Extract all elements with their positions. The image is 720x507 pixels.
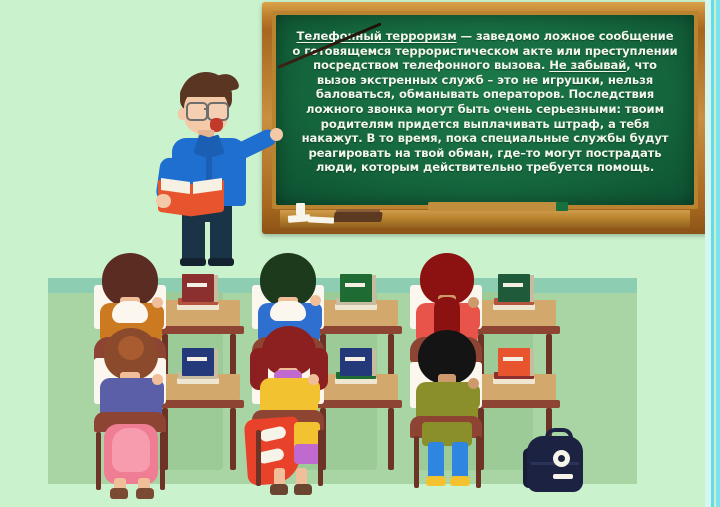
glasses-icon xyxy=(186,102,208,121)
student-hand xyxy=(152,297,163,308)
student-shoe-right xyxy=(450,476,470,486)
student-back-right xyxy=(402,330,494,488)
backpack-with-face xyxy=(527,428,583,492)
chalk-tray-ledge xyxy=(428,202,564,211)
edge-stripe-cyan-outer xyxy=(716,0,720,507)
book-label-band xyxy=(345,357,365,361)
teacher-fringe xyxy=(180,84,232,97)
student-leg-left xyxy=(428,442,444,480)
desk-leg-right xyxy=(388,408,394,470)
chalk-tray-marker xyxy=(556,202,568,211)
book-label-band xyxy=(187,357,207,361)
student-back-middle xyxy=(244,326,336,488)
student-skirt-lower xyxy=(294,444,320,464)
book-cover xyxy=(498,274,530,302)
chair-leg-left xyxy=(414,436,419,488)
student-skirt-highlight xyxy=(112,428,150,472)
classroom-illustration: Телефонный терроризм — заведомо ложное с… xyxy=(0,0,720,507)
chalk-piece-2 xyxy=(296,203,305,215)
student-leg-right xyxy=(452,442,468,480)
blackboard: Телефонный терроризм — заведомо ложное с… xyxy=(262,2,708,234)
student-arm xyxy=(466,305,480,331)
chalk-piece-3 xyxy=(308,216,334,223)
student-shoe-right xyxy=(136,488,154,499)
student-shoe-right xyxy=(294,484,312,495)
book-cover xyxy=(340,348,372,376)
backpack-mouth xyxy=(553,474,573,479)
student-back-left xyxy=(86,328,178,488)
glasses-bridge xyxy=(204,108,209,110)
book-label-band xyxy=(503,283,523,287)
book-cover xyxy=(182,348,214,376)
teacher-shoe-right xyxy=(208,258,234,266)
book-cover xyxy=(340,274,372,302)
student-shoe-left xyxy=(110,488,128,499)
chair-leg-right xyxy=(476,436,481,488)
teacher-hand-left xyxy=(156,194,171,208)
teacher-shoe-left xyxy=(180,258,206,266)
book-cover xyxy=(182,274,214,302)
chair-leg-right xyxy=(160,432,165,490)
teacher-figure xyxy=(150,72,270,262)
student-collar xyxy=(270,301,306,321)
student-hand xyxy=(310,295,321,306)
blackboard-heading: Телефонный терроризм xyxy=(297,29,457,43)
blackboard-eraser xyxy=(333,212,382,222)
book-cover xyxy=(498,348,530,376)
edge-stripe-cyan-inner xyxy=(711,0,714,507)
student-hair-bun xyxy=(118,336,144,360)
book-label-band xyxy=(503,357,523,361)
backpack-pupil xyxy=(558,455,565,462)
chair-leg-right xyxy=(318,430,323,486)
blackboard-emphasis: Не забывай xyxy=(549,58,626,72)
blackboard-surface: Телефонный терроризм — заведомо ложное с… xyxy=(276,15,694,205)
student-collar xyxy=(112,301,148,323)
desk-leg-right xyxy=(230,408,236,470)
teacher-hand-right xyxy=(270,128,283,141)
blackboard-text: Телефонный терроризм — заведомо ложное с… xyxy=(292,29,678,175)
student-hand xyxy=(152,374,163,385)
student-hand xyxy=(308,374,319,385)
chair-leg-left xyxy=(256,430,261,486)
student-shoe-left xyxy=(426,476,446,486)
student-hand xyxy=(468,297,479,308)
student-shoe-left xyxy=(270,484,288,495)
book-label-band xyxy=(187,283,207,287)
chair-leg-left xyxy=(96,432,101,490)
blackboard-body-2: , что вызов экстренных служб – это не иг… xyxy=(302,58,669,174)
book-label-band xyxy=(345,283,365,287)
student-hand xyxy=(468,378,479,389)
